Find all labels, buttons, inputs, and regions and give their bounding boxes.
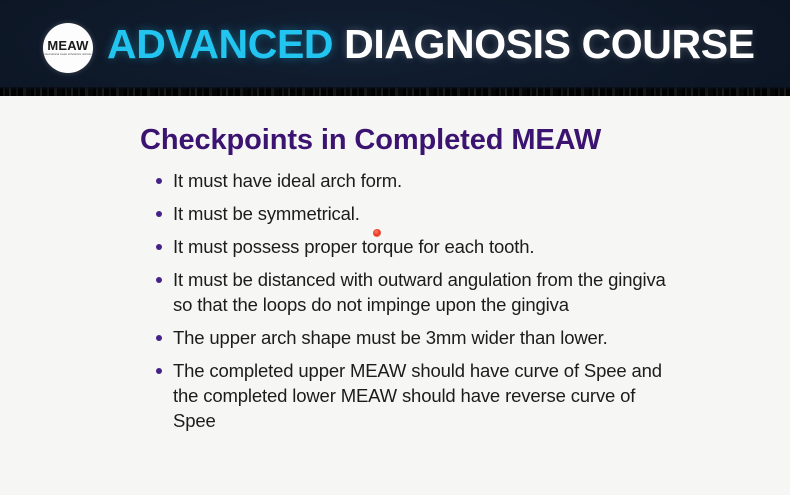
list-item: It must possess proper torque for each t…: [152, 234, 682, 259]
course-title-main: DIAGNOSIS COURSE: [344, 21, 755, 68]
list-item: The completed upper MEAW should have cur…: [152, 358, 682, 433]
laser-pointer-dot: [373, 229, 381, 237]
list-item: It must be symmetrical.: [152, 201, 682, 226]
list-item: The upper arch shape must be 3mm wider t…: [152, 325, 682, 350]
meaw-circle-logo: MEAW international meaw orthodontic inst…: [43, 23, 93, 73]
list-item: It must be distanced with outward angula…: [152, 267, 682, 317]
slide-heading: Checkpoints in Completed MEAW: [140, 124, 601, 157]
header-banner: MEAW international meaw orthodontic inst…: [0, 0, 790, 96]
checkpoint-list: It must have ideal arch form. It must be…: [152, 168, 682, 441]
list-item: It must have ideal arch form.: [152, 168, 682, 193]
banner-bottom-artifact-strip: [0, 87, 790, 96]
course-title: ADVANCED DIAGNOSIS COURSE: [107, 0, 755, 88]
logo-subtitle: international meaw orthodontic institute: [44, 54, 91, 57]
slide-content-area: Checkpoints in Completed MEAW It must ha…: [0, 96, 790, 495]
logo-wordmark: MEAW: [47, 39, 88, 52]
course-title-accent: ADVANCED: [107, 21, 333, 68]
